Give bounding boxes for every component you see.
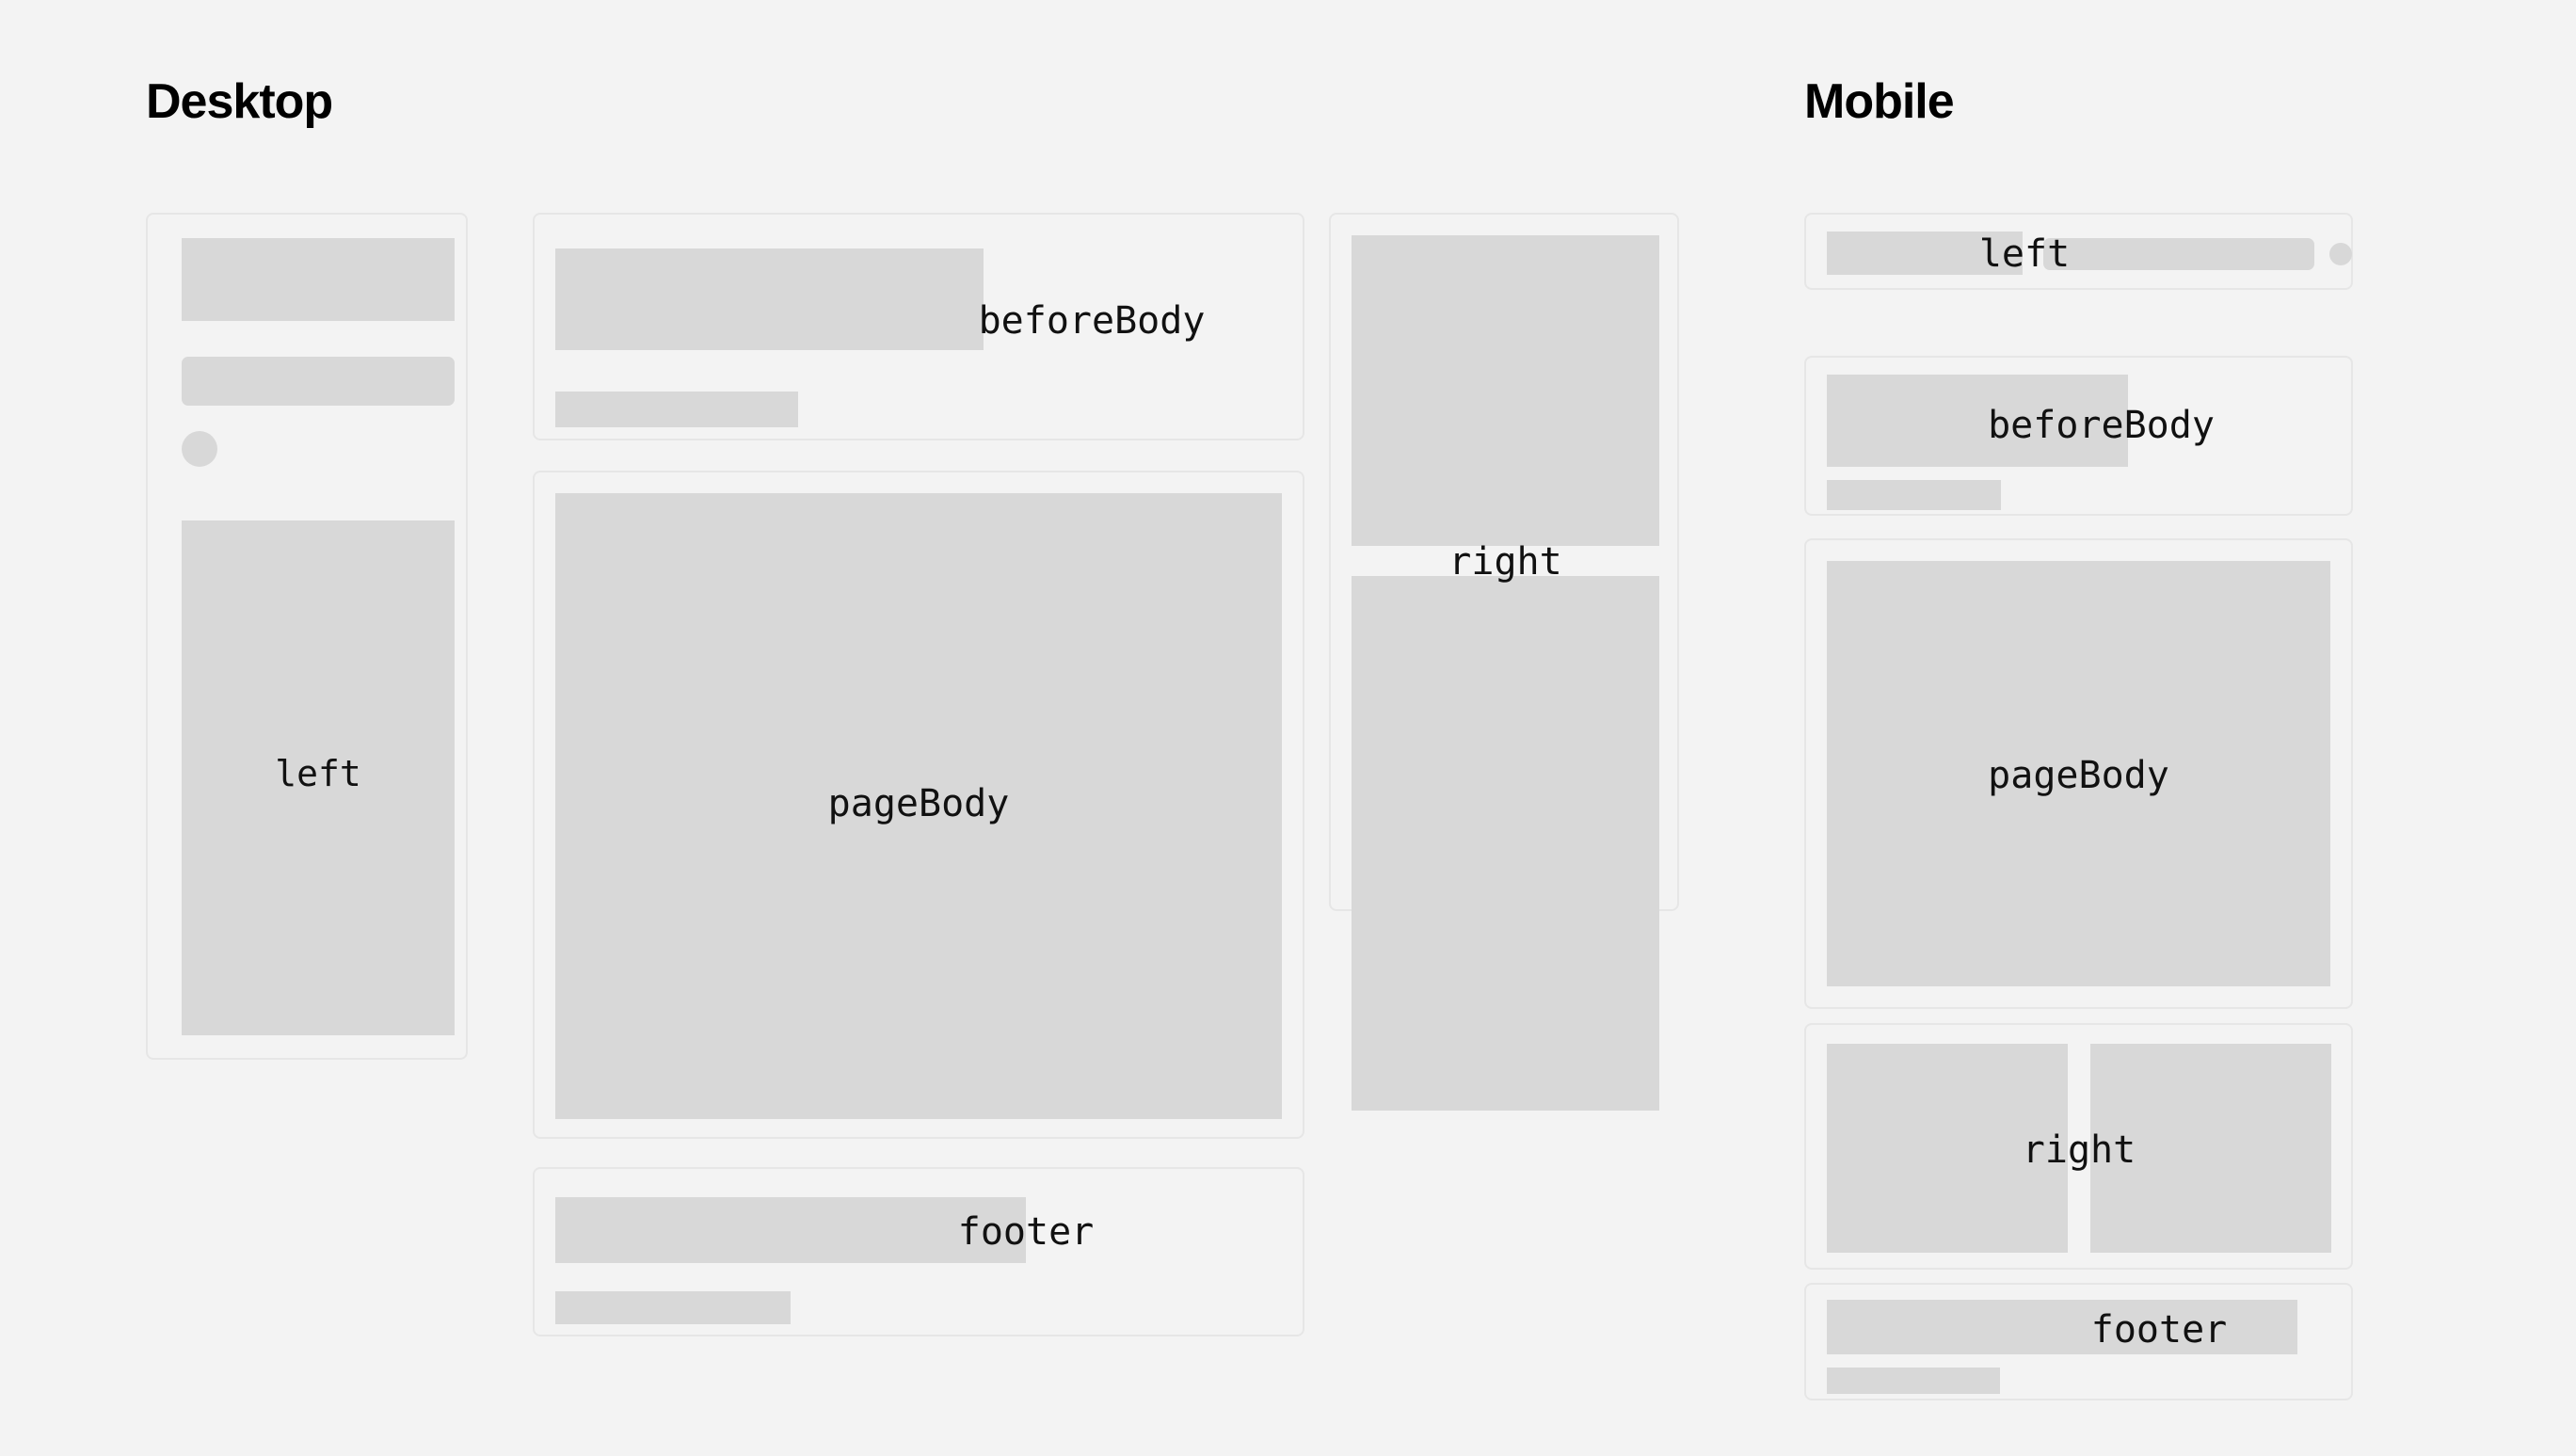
desktop-beforebody-panel[interactable]: beforeBody bbox=[533, 213, 1304, 440]
sidebar-header-block bbox=[182, 238, 455, 321]
footer-bar bbox=[555, 1291, 791, 1324]
mobile-right-right-block bbox=[2090, 1044, 2331, 1253]
right-bottom-block bbox=[1352, 576, 1659, 1111]
mobile-header-block bbox=[1827, 232, 2023, 275]
desktop-right-slot-label: right bbox=[1352, 543, 1659, 581]
mobile-pagebody-panel[interactable]: pageBody bbox=[1804, 538, 2353, 1009]
sidebar-search-bar[interactable] bbox=[182, 357, 455, 406]
sidebar-left-content-block bbox=[182, 520, 455, 1035]
desktop-left-sidebar-panel[interactable]: left bbox=[146, 213, 468, 1060]
mobile-footer-panel[interactable]: footer bbox=[1804, 1283, 2353, 1400]
mobile-footer-bar bbox=[1827, 1368, 2000, 1394]
desktop-right-panel[interactable]: right bbox=[1329, 213, 1679, 911]
mobile-avatar-circle[interactable] bbox=[2329, 243, 2352, 265]
desktop-pagebody-panel[interactable]: pageBody bbox=[533, 471, 1304, 1139]
right-top-block bbox=[1352, 235, 1659, 546]
mobile-search-bar[interactable] bbox=[2043, 238, 2314, 270]
beforebody-secondary-bar bbox=[555, 392, 798, 427]
wireframe-canvas: Desktop left beforeBody pageBody right f… bbox=[0, 0, 2576, 1456]
desktop-footer-panel[interactable]: footer bbox=[533, 1167, 1304, 1336]
mobile-footer-block bbox=[1827, 1300, 2297, 1354]
pagebody-body-block bbox=[555, 493, 1282, 1119]
footer-block bbox=[555, 1197, 1026, 1263]
mobile-beforebody-panel[interactable]: beforeBody bbox=[1804, 356, 2353, 516]
mobile-right-left-block bbox=[1827, 1044, 2068, 1253]
beforebody-primary-block bbox=[555, 248, 984, 350]
mobile-left-panel[interactable]: left bbox=[1804, 213, 2353, 290]
mobile-beforebody-primary-block bbox=[1827, 375, 2128, 467]
sidebar-avatar-circle[interactable] bbox=[182, 431, 217, 467]
mobile-beforebody-secondary-bar bbox=[1827, 480, 2001, 510]
mobile-pagebody-body-block bbox=[1827, 561, 2330, 986]
mobile-section-title: Mobile bbox=[1804, 77, 1954, 126]
mobile-right-panel[interactable]: right bbox=[1804, 1023, 2353, 1270]
desktop-section-title: Desktop bbox=[146, 77, 332, 126]
